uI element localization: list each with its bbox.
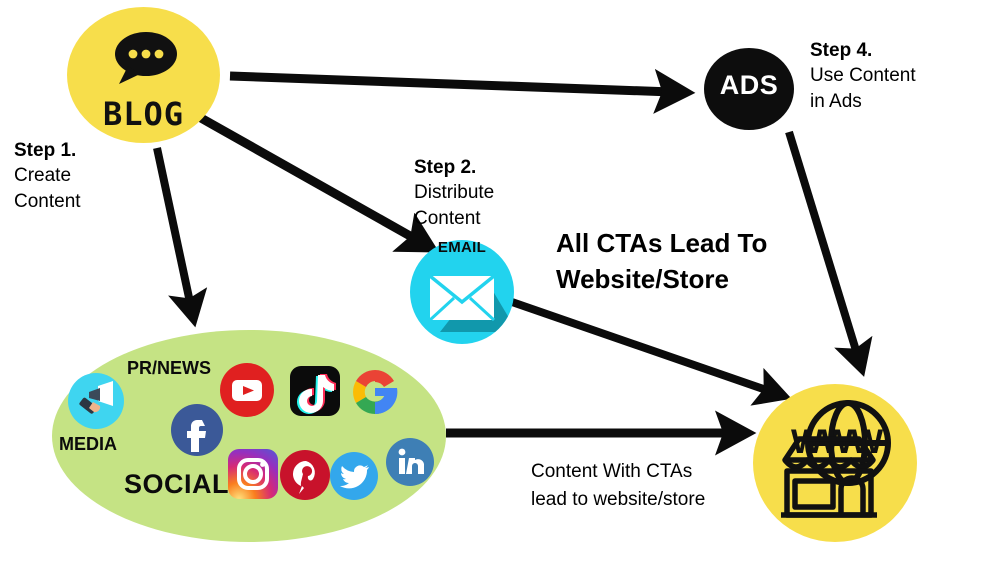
diagram-canvas: BLOG ADS EMAIL WWW	[0, 0, 1000, 563]
ads-label: ADS	[704, 70, 794, 101]
media-label: MEDIA	[59, 434, 117, 455]
social-label: SOCIAL	[124, 469, 229, 500]
step-4-line-1: Use Content	[810, 63, 916, 88]
tiktok-icon[interactable]	[290, 366, 340, 416]
headline: All CTAs Lead To Website/Store	[556, 225, 886, 298]
google-icon[interactable]	[349, 366, 401, 418]
step-1-heading: Step 1.	[14, 138, 81, 163]
caption-line-1: Content With CTAs	[531, 458, 801, 486]
facebook-icon[interactable]	[171, 404, 223, 456]
blog-label: BLOG	[67, 95, 220, 133]
step-4-line-2: in Ads	[810, 89, 916, 114]
step-2-line-2: Content	[414, 206, 494, 231]
arrow-blog-to-ads	[230, 76, 672, 92]
pinterest-icon[interactable]	[280, 450, 330, 500]
step-1-line-2: Content	[14, 189, 81, 214]
twitter-icon[interactable]	[330, 452, 378, 500]
caption-line-2: lead to website/store	[531, 486, 801, 514]
headline-line-2: Website/Store	[556, 261, 886, 297]
step-2-heading: Step 2.	[414, 155, 494, 180]
bottom-caption: Content With CTAs lead to website/store	[531, 458, 801, 513]
step-1-block: Step 1. Create Content	[14, 138, 81, 214]
linkedin-icon[interactable]	[386, 438, 434, 486]
arrow-blog-to-email	[201, 118, 419, 241]
instagram-icon[interactable]	[228, 449, 278, 499]
email-label: EMAIL	[410, 239, 514, 256]
step-2-block: Step 2. Distribute Content	[414, 155, 494, 231]
speech-bubble-icon	[112, 30, 178, 88]
media-megaphone-icon[interactable]	[68, 373, 124, 429]
arrow-blog-to-social	[157, 148, 191, 307]
arrow-email-to-website	[512, 302, 772, 392]
youtube-icon[interactable]	[220, 363, 274, 417]
headline-line-1: All CTAs Lead To	[556, 225, 886, 261]
step-4-heading: Step 4.	[810, 38, 916, 63]
step-4-block: Step 4. Use Content in Ads	[810, 38, 916, 114]
step-2-line-1: Distribute	[414, 180, 494, 205]
step-1-line-1: Create	[14, 163, 81, 188]
pr-news-label: PR/NEWS	[127, 358, 211, 379]
svg-text:W: W	[821, 423, 854, 461]
